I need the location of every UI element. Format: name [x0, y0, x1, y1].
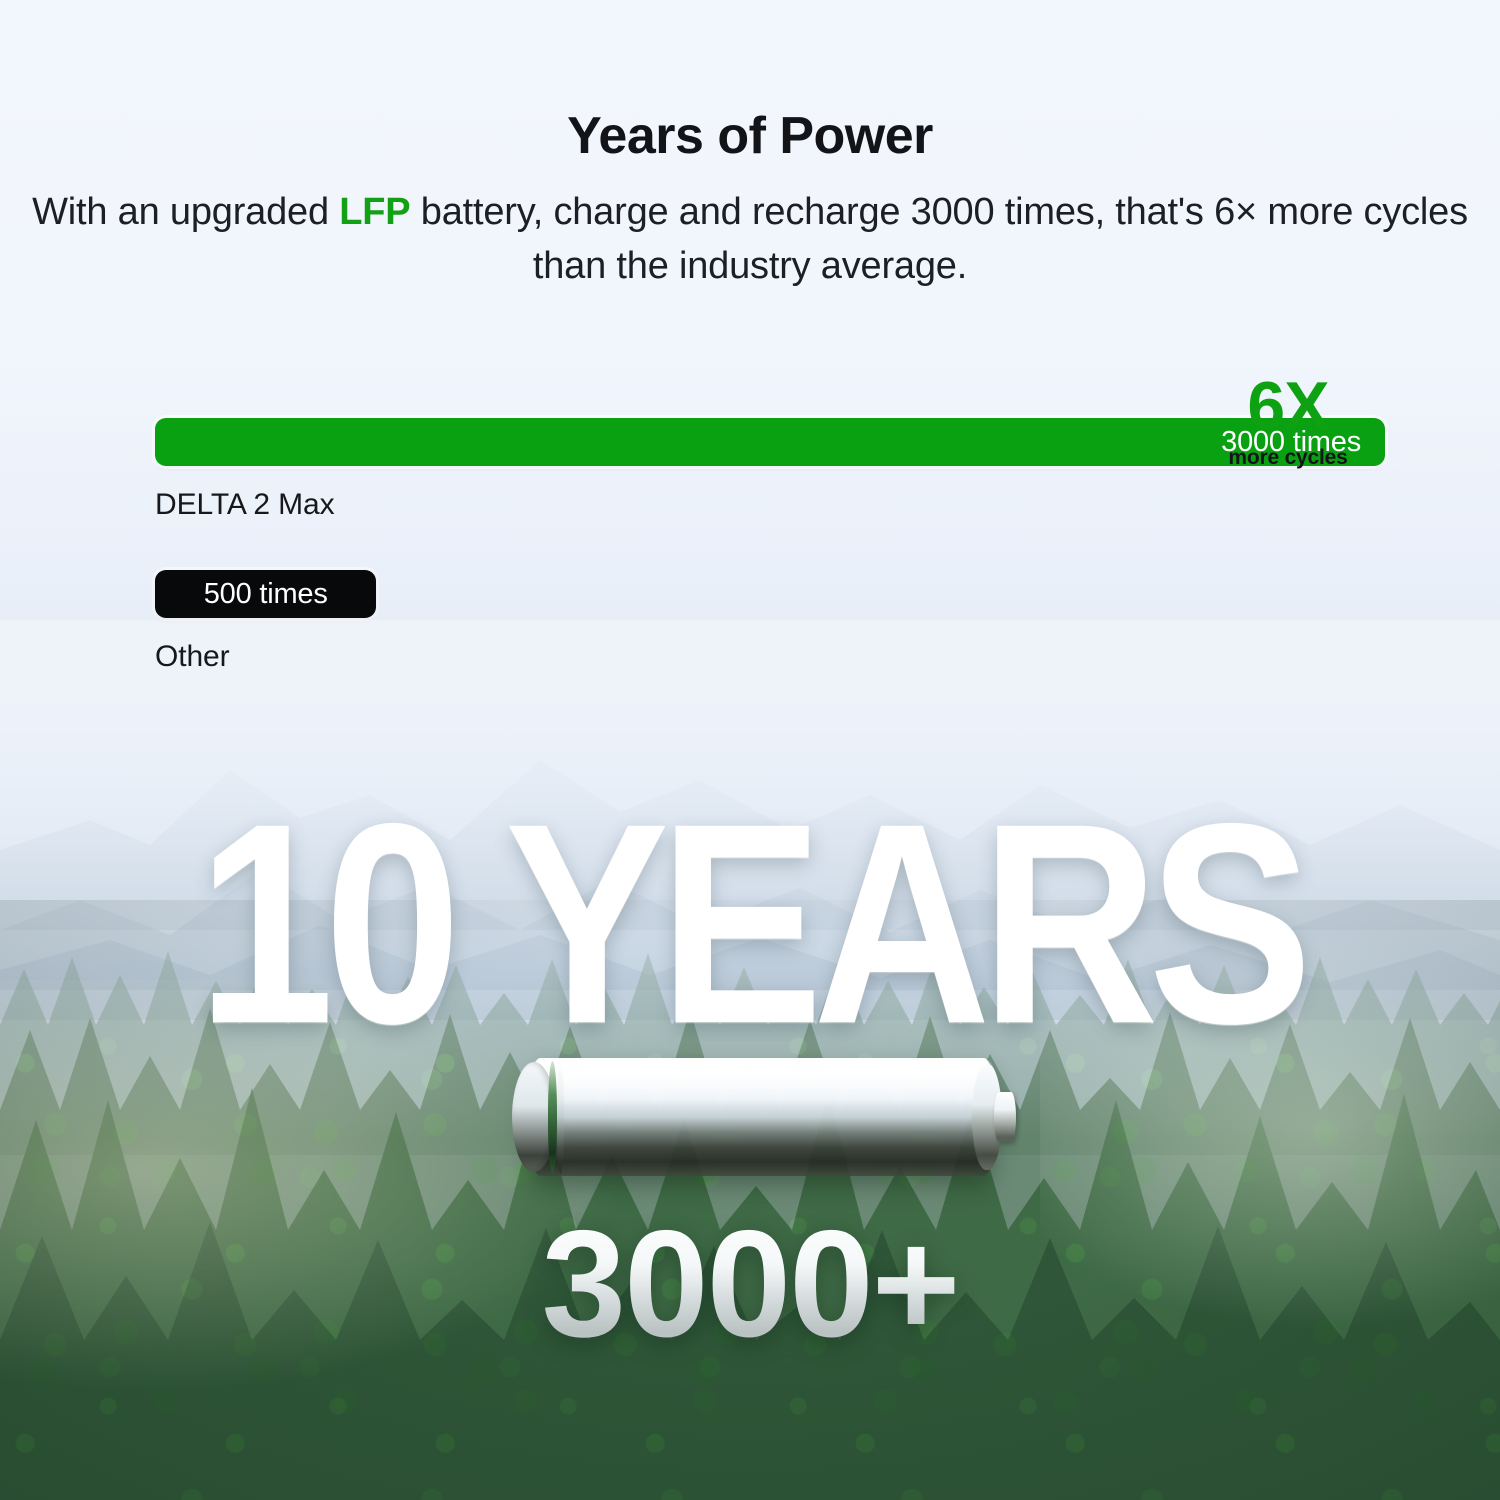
- subtitle-lfp-highlight: LFP: [339, 191, 410, 233]
- bar-label-other: Other: [155, 640, 1385, 674]
- chart-row-spacer: [155, 522, 1385, 570]
- bar-label-delta-2-max: DELTA 2 Max: [155, 488, 1385, 522]
- chart-row-other: 500 times: [155, 570, 1385, 620]
- multiplier-value: 6X: [1198, 372, 1378, 440]
- bar-other: 500 times: [155, 570, 376, 618]
- cycle-count-hero: 3000+: [0, 1208, 1500, 1360]
- years-hero-text: 10 YEARS: [0, 782, 1500, 1067]
- subtitle-part-2: battery, charge and recharge 3000 times,…: [410, 191, 1467, 287]
- battery-positive-terminal: [994, 1092, 1016, 1142]
- promo-banner: Years of Power With an upgraded LFP batt…: [0, 0, 1500, 1500]
- multiplier-badge: 6X more cycles: [1198, 372, 1378, 468]
- battery-ring-shadow: [557, 1060, 564, 1174]
- battery-cell-illustration: [512, 1058, 1012, 1178]
- subtitle-part-1: With an upgraded: [32, 191, 339, 233]
- multiplier-caption: more cycles: [1198, 447, 1378, 468]
- bar-value-other: 500 times: [155, 578, 376, 611]
- page-subtitle: With an upgraded LFP battery, charge and…: [0, 164, 1500, 294]
- headline-block: Years of Power With an upgraded LFP batt…: [0, 0, 1500, 294]
- battery-highlight: [528, 1061, 996, 1105]
- page-title: Years of Power: [0, 0, 1500, 164]
- battery-green-ring: [548, 1061, 557, 1173]
